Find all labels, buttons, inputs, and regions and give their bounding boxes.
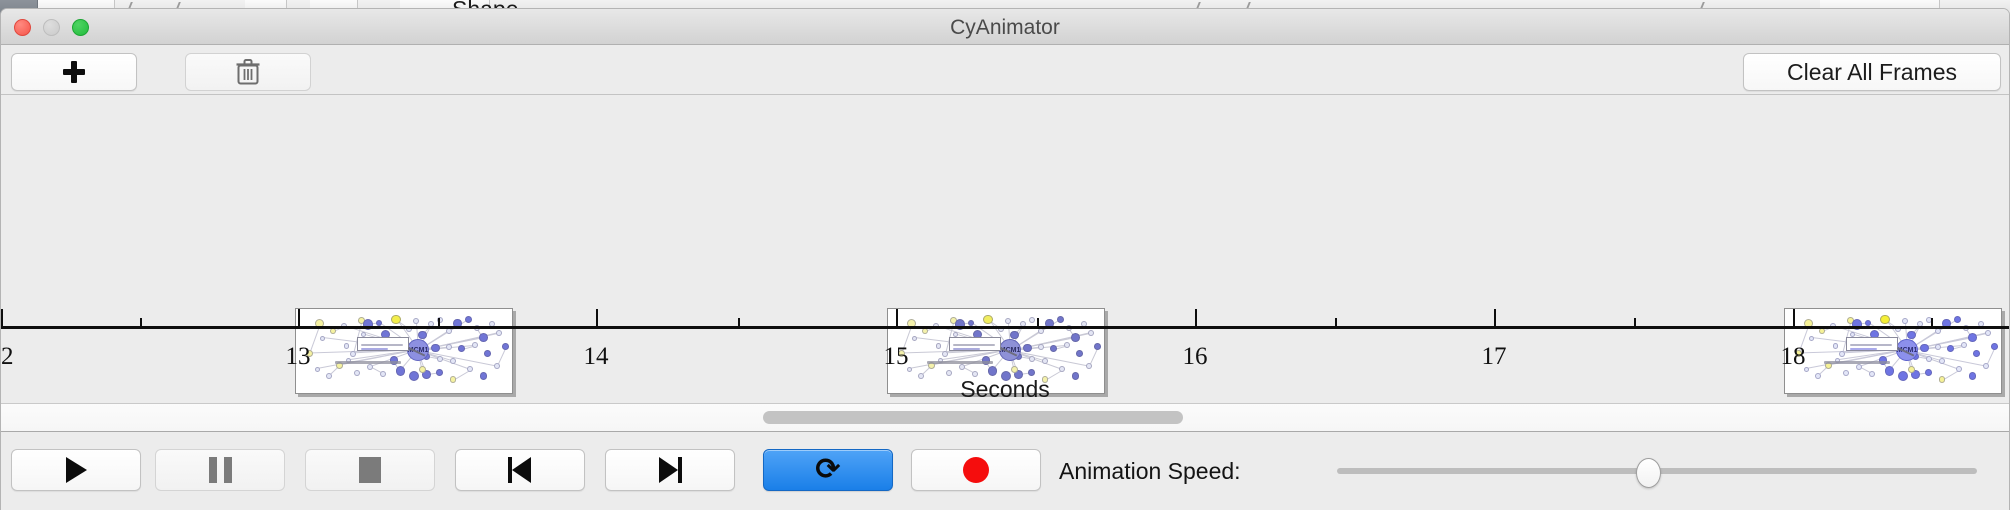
stop-icon xyxy=(359,457,381,483)
network-node xyxy=(1907,331,1915,339)
network-node xyxy=(959,364,965,370)
delete-frame-button[interactable] xyxy=(185,53,311,91)
timeline-scrollbar[interactable] xyxy=(1,404,2009,432)
network-node xyxy=(1094,343,1101,350)
network-node xyxy=(1050,345,1057,352)
network-node xyxy=(983,315,993,325)
play-button[interactable] xyxy=(11,449,141,491)
network-node xyxy=(1961,342,1967,348)
network-node xyxy=(354,370,360,376)
network-node xyxy=(1947,345,1954,352)
callout-text xyxy=(953,348,979,350)
network-node xyxy=(942,351,948,357)
timeline-axis xyxy=(1,326,2009,329)
network-node xyxy=(1071,333,1080,342)
network-node xyxy=(1939,358,1945,364)
network-node xyxy=(946,370,952,376)
network-node xyxy=(396,366,405,375)
axis-tick-minor xyxy=(738,318,740,329)
network-node xyxy=(1057,316,1064,323)
axis-tick-label: 15 xyxy=(884,343,909,371)
network-node xyxy=(1023,344,1031,352)
network-node xyxy=(912,336,917,341)
network-node xyxy=(1064,342,1070,348)
network-node xyxy=(376,320,382,326)
record-icon xyxy=(963,457,989,483)
axis-tick-major xyxy=(1,309,3,329)
network-node xyxy=(1029,356,1035,362)
network-node xyxy=(936,343,941,348)
axis-title: Seconds xyxy=(1,376,2009,403)
add-frame-button[interactable] xyxy=(11,53,137,91)
network-node xyxy=(1856,364,1862,370)
network-node xyxy=(1985,330,1991,336)
previous-frame-button[interactable] xyxy=(455,449,585,491)
network-node xyxy=(472,342,478,348)
loop-icon: ⟳ xyxy=(815,456,840,484)
network-node xyxy=(502,343,509,350)
network-node xyxy=(1833,343,1838,348)
network-node xyxy=(367,364,373,370)
axis-tick-major xyxy=(1494,309,1496,329)
axis-tick-label: 12 xyxy=(0,343,14,371)
skip-previous-icon xyxy=(508,457,532,483)
plus-icon xyxy=(63,61,85,83)
network-node xyxy=(1908,366,1915,373)
network-node xyxy=(1029,317,1035,323)
network-node xyxy=(1010,331,1018,339)
frame-toolbar: Clear All Frames xyxy=(1,45,2009,95)
axis-tick-label: 17 xyxy=(1482,343,1507,371)
network-node xyxy=(467,366,473,372)
callout-text xyxy=(361,344,402,346)
network-node xyxy=(350,351,356,357)
network-node xyxy=(968,320,974,326)
network-node xyxy=(1028,369,1035,376)
timeline-panel[interactable]: MCM1MCM1MCM1 12131415161718 Seconds xyxy=(1,95,2009,404)
annotation-text xyxy=(335,361,400,364)
network-node xyxy=(1843,370,1849,376)
axis-tick-minor xyxy=(1037,318,1039,329)
network-node xyxy=(431,344,439,352)
axis-tick-label: 13 xyxy=(286,343,311,371)
axis-tick-major xyxy=(896,309,898,329)
network-node xyxy=(1005,318,1011,324)
play-icon xyxy=(66,457,87,483)
network-node xyxy=(1839,351,1845,357)
callout-text xyxy=(1850,344,1891,346)
axis-tick-minor xyxy=(140,318,142,329)
clear-all-frames-button[interactable]: Clear All Frames xyxy=(1743,53,2001,91)
network-node xyxy=(1956,366,1962,372)
next-frame-button[interactable] xyxy=(605,449,735,491)
callout-text xyxy=(361,348,387,350)
annotation-text xyxy=(927,361,992,364)
axis-tick-major xyxy=(1195,309,1197,329)
network-node xyxy=(418,331,426,339)
network-node xyxy=(479,333,488,342)
network-node xyxy=(496,330,502,336)
network-node xyxy=(1011,366,1018,373)
network-node xyxy=(1920,344,1928,352)
animation-speed-label: Animation Speed: xyxy=(1059,458,1241,485)
clear-all-frames-label: Clear All Frames xyxy=(1787,59,1957,86)
axis-tick-major xyxy=(596,309,598,329)
scrollbar-thumb[interactable] xyxy=(763,411,1183,424)
network-node xyxy=(1954,316,1961,323)
network-node xyxy=(1991,343,1998,350)
network-node xyxy=(1983,363,1989,369)
network-node xyxy=(391,315,401,325)
axis-tick-minor xyxy=(1335,318,1337,329)
network-node xyxy=(1038,344,1044,350)
network-node xyxy=(1968,333,1977,342)
axis-tick-minor xyxy=(1634,318,1636,329)
title-bar: CyAnimator xyxy=(1,9,2009,45)
network-node xyxy=(458,345,465,352)
network-node xyxy=(419,366,426,373)
network-node xyxy=(1042,358,1048,364)
network-node xyxy=(1973,350,1980,357)
axis-tick-label: 14 xyxy=(584,343,609,371)
network-node xyxy=(1059,366,1065,372)
network-node xyxy=(1076,350,1083,357)
network-node xyxy=(988,366,997,375)
transport-bar: ⟳ Animation Speed: xyxy=(1,432,2009,510)
network-node xyxy=(413,318,419,324)
network-node xyxy=(315,367,320,372)
network-node xyxy=(344,343,349,348)
axis-tick-minor xyxy=(438,318,440,329)
stop-button xyxy=(305,449,435,491)
network-node xyxy=(484,350,491,357)
network-node xyxy=(1926,356,1932,362)
axis-tick-major xyxy=(298,309,300,329)
network-node xyxy=(1885,366,1894,375)
network-node xyxy=(437,356,443,362)
loop-button[interactable]: ⟳ xyxy=(763,449,893,491)
network-node xyxy=(1902,318,1908,324)
record-button[interactable] xyxy=(911,449,1041,491)
network-node xyxy=(1088,330,1094,336)
network-node xyxy=(1935,344,1941,350)
network-node xyxy=(1865,320,1871,326)
network-node xyxy=(446,344,452,350)
axis-tick-label: 18 xyxy=(1781,343,1806,371)
axis-tick-label: 16 xyxy=(1183,343,1208,371)
network-node xyxy=(494,363,500,369)
pause-button xyxy=(155,449,285,491)
cyanimator-window: CyAnimator Clear All Frames MCM1MCM1MCM1… xyxy=(0,8,2010,510)
network-node xyxy=(320,336,325,341)
trash-icon xyxy=(235,58,261,86)
axis-tick-major xyxy=(1793,309,1795,329)
animation-speed-slider-thumb[interactable] xyxy=(1636,458,1661,488)
network-node xyxy=(465,316,472,323)
network-node xyxy=(1925,369,1932,376)
window-title: CyAnimator xyxy=(1,16,2009,40)
axis-tick-minor xyxy=(1931,318,1933,329)
network-node xyxy=(1880,315,1890,325)
network-node xyxy=(436,369,443,376)
network-node xyxy=(1809,336,1814,341)
pause-icon xyxy=(209,457,232,483)
skip-next-icon xyxy=(658,457,682,483)
network-node xyxy=(450,358,456,364)
annotation-text xyxy=(1824,361,1889,364)
callout-text xyxy=(1850,348,1876,350)
network-node xyxy=(1086,363,1092,369)
callout-text xyxy=(953,344,994,346)
